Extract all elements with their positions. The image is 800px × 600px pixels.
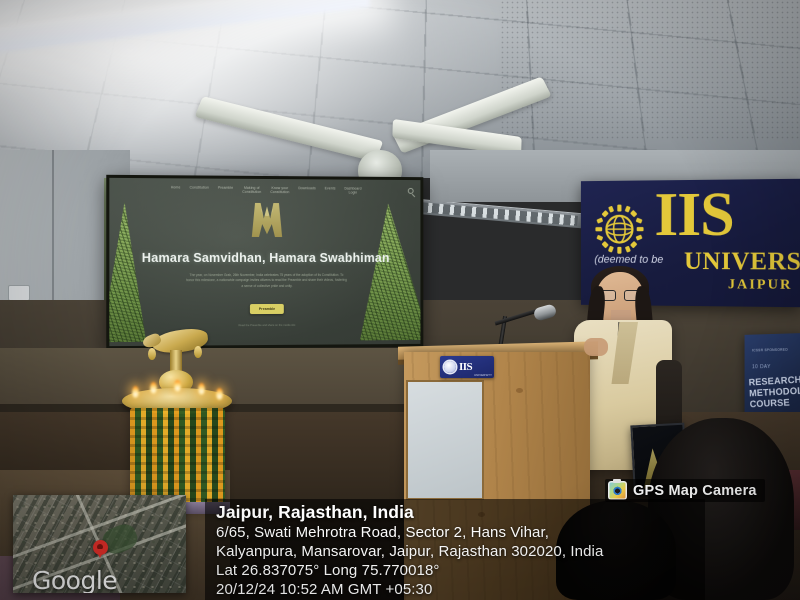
lamp-flame-2 bbox=[150, 382, 157, 394]
iis-city: JAIPUR bbox=[728, 277, 792, 294]
speaker-hand bbox=[584, 338, 608, 356]
iis-university-word: UNIVERSITY bbox=[684, 248, 800, 277]
gps-map-thumbnail[interactable]: Google bbox=[13, 495, 186, 593]
wall-switch-plate bbox=[8, 285, 30, 301]
gps-address-line-1: 6/65, Swati Mehrotra Road, Sector 2, Han… bbox=[216, 523, 695, 542]
ceiling-texture bbox=[500, 0, 800, 140]
rm-banner-kicker: ICSSR SPONSORED bbox=[752, 348, 788, 353]
rm-banner-badge: 10 DAY bbox=[752, 364, 771, 370]
gps-address-line-2: Kalyanpura, Mansarovar, Jaipur, Rajastha… bbox=[216, 542, 695, 561]
search-icon[interactable] bbox=[408, 188, 414, 194]
podium-front-panel bbox=[406, 380, 484, 500]
nav-item-dashboard-login[interactable]: Dashboard Login bbox=[344, 187, 361, 196]
nav-item-home[interactable]: Home bbox=[171, 185, 181, 189]
projection-screen: Home Constitution Preamble Making of Con… bbox=[106, 175, 423, 349]
gps-location-title: Jaipur, Rajasthan, India bbox=[216, 502, 695, 523]
podium-iis-plaque: IIS UNIVERSITY bbox=[440, 356, 494, 378]
gps-coordinates: Lat 26.837075° Long 75.770018° bbox=[216, 561, 695, 580]
podium-knot-2 bbox=[516, 388, 523, 393]
rm-banner-title: RESEARCH METHODOLOGY COURSE bbox=[748, 374, 800, 410]
map-pin-icon bbox=[93, 540, 108, 555]
slide-navbar: Home Constitution Preamble Making of Con… bbox=[109, 185, 420, 195]
nav-item-making-of-constitution[interactable]: Making of Constitution bbox=[242, 186, 261, 195]
lamp-bell-left bbox=[148, 348, 156, 360]
lamp-flame-1 bbox=[132, 386, 139, 398]
nav-item-know-your-constitution[interactable]: Know your Constitution bbox=[270, 186, 289, 195]
gps-map-camera-label: GPS Map Camera bbox=[633, 483, 757, 499]
lamp-bell-right bbox=[194, 346, 202, 358]
nav-item-preamble[interactable]: Preamble bbox=[218, 186, 233, 190]
lamp-flame-4 bbox=[198, 383, 205, 395]
slide-body-text: The year, on November Grab, 26th Novembe… bbox=[186, 273, 348, 290]
ceremonial-oil-lamp bbox=[118, 330, 236, 510]
gps-info-panel: Jaipur, Rajasthan, India 6/65, Swati Meh… bbox=[205, 499, 705, 600]
iis-acronym: IIS bbox=[654, 186, 733, 245]
lamp-flame-3 bbox=[174, 380, 181, 392]
preamble-cta-button[interactable]: Preamble bbox=[250, 304, 284, 314]
nav-item-downloads[interactable]: Downloads bbox=[298, 186, 316, 190]
iis-deemed-text: (deemed to be bbox=[594, 254, 663, 266]
google-watermark: Google bbox=[32, 566, 117, 593]
plaque-acronym: IIS bbox=[459, 361, 472, 373]
nav-item-events[interactable]: Events bbox=[325, 186, 336, 190]
marigold-garland bbox=[130, 408, 225, 508]
lamp-flame-5 bbox=[216, 388, 223, 400]
projected-slide: Home Constitution Preamble Making of Con… bbox=[109, 178, 420, 346]
plaque-subtitle: UNIVERSITY bbox=[474, 373, 492, 377]
nav-item-constitution[interactable]: Constitution bbox=[190, 185, 209, 189]
iis-globe-logo bbox=[592, 202, 646, 256]
plaque-globe-icon bbox=[444, 361, 456, 373]
photograph: Home Constitution Preamble Making of Con… bbox=[0, 0, 800, 600]
gps-timestamp: 20/12/24 10:52 AM GMT +05:30 bbox=[216, 580, 695, 599]
slide-headline: Hamara Samvidhan, Hamara Swabhiman bbox=[109, 251, 420, 265]
gps-map-camera-icon bbox=[608, 481, 627, 500]
